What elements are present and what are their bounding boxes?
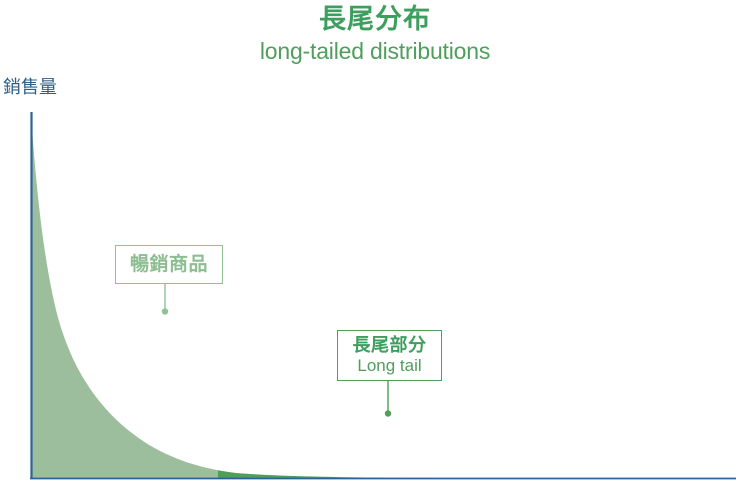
tail-callout-anchor-dot bbox=[385, 410, 391, 416]
annotation-tail-label-en: Long tail bbox=[357, 356, 421, 376]
head-callout-leader bbox=[162, 284, 168, 315]
head-region-area bbox=[31, 113, 680, 478]
chart-canvas: 長尾分布 long-tailed distributions 銷售量 bbox=[0, 0, 750, 493]
annotation-tail-label-zh: 長尾部分 bbox=[353, 335, 427, 356]
tail-region-area bbox=[31, 113, 680, 478]
long-tail-area-chart bbox=[0, 0, 750, 493]
annotation-head-label: 暢銷商品 bbox=[130, 254, 208, 276]
annotation-head-callout: 暢銷商品 bbox=[115, 245, 223, 284]
tail-callout-leader bbox=[385, 381, 391, 417]
annotation-tail-callout: 長尾部分 Long tail bbox=[337, 330, 442, 381]
head-callout-anchor-dot bbox=[162, 308, 168, 314]
